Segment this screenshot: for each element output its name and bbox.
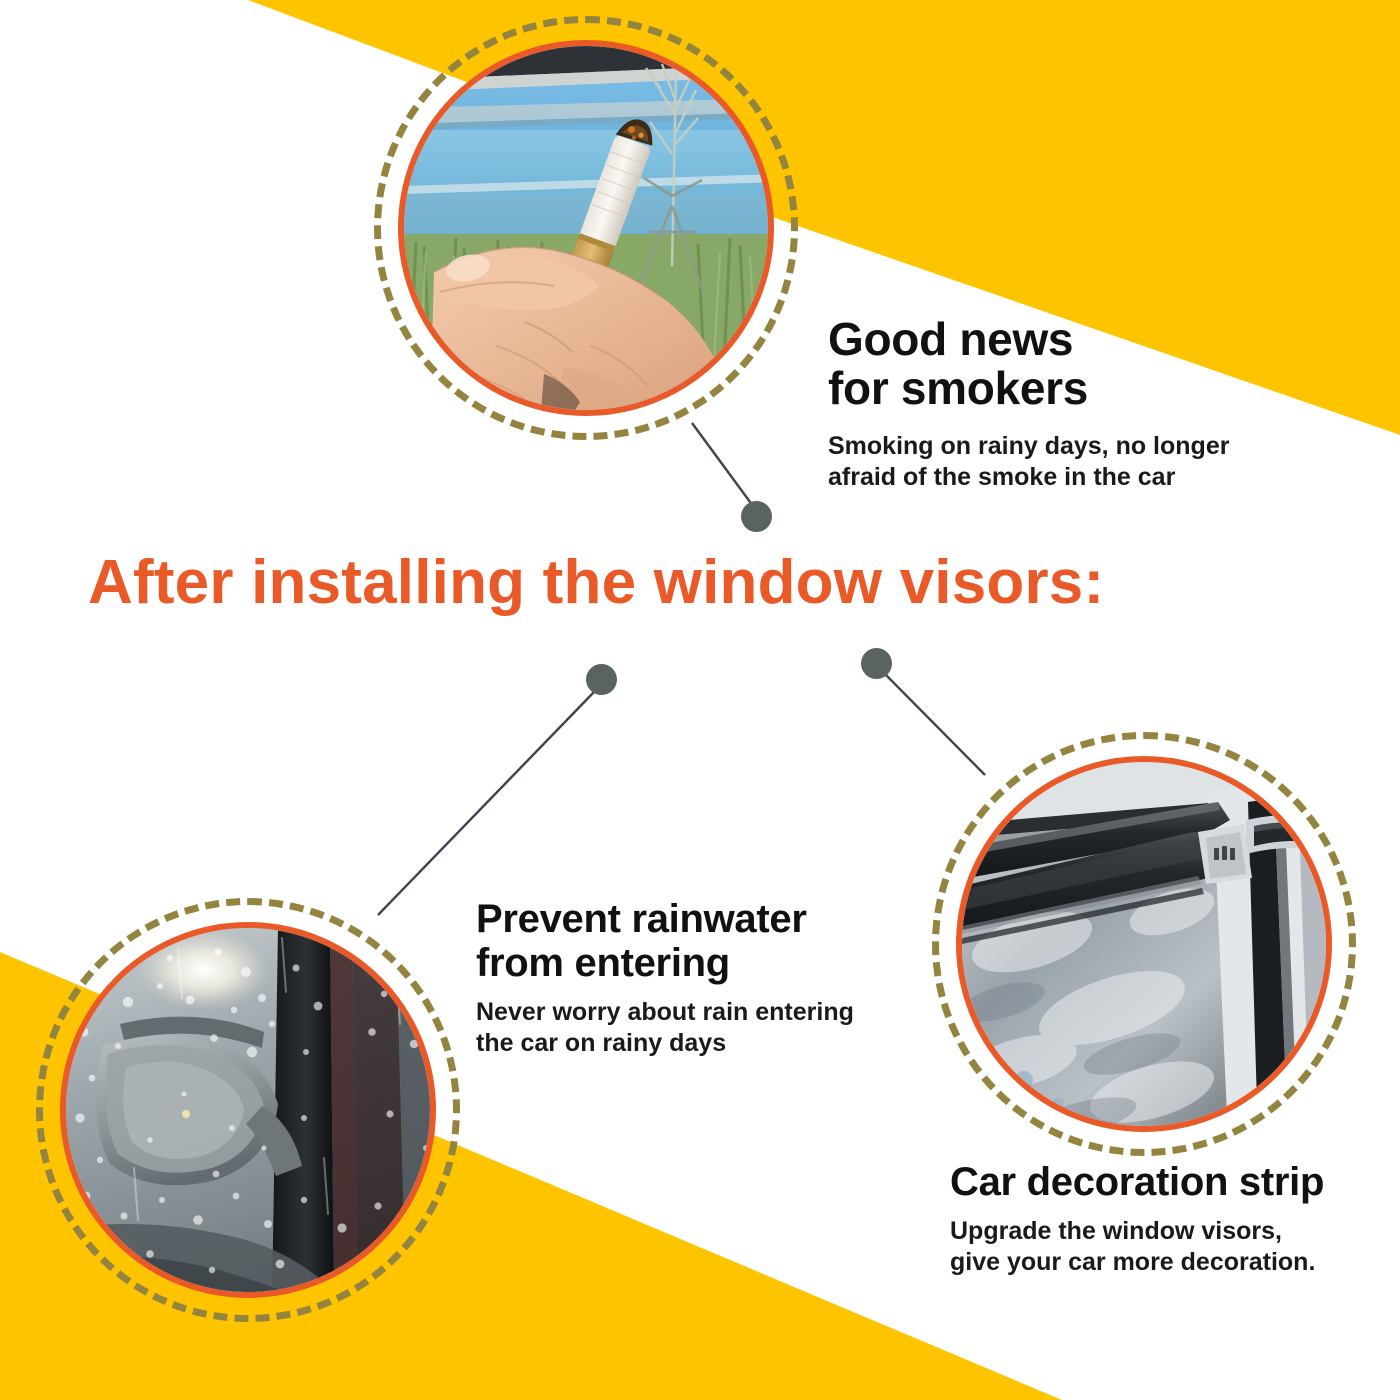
infographic-poster: After installing the window visors: Good… (0, 0, 1400, 1400)
callout-body-line1: Never worry about rain entering (476, 998, 854, 1026)
callout-body-line1: Smoking on rainy days, no longer (828, 432, 1229, 460)
callout-body-line2: the car on rainy days (476, 1029, 726, 1057)
callout-title-line1: Car decoration strip (950, 1160, 1324, 1204)
callout-body-line1: Upgrade the window visors, (950, 1217, 1282, 1245)
callout-body-line2: give your car more decoration. (950, 1248, 1315, 1276)
callout-title: Car decoration strip (950, 1160, 1324, 1204)
callout-prevent-rainwater: Prevent rainwater from entering Never wo… (476, 897, 854, 1059)
photo-rainwater-image (66, 928, 430, 1292)
photo-orange-ring (956, 756, 1332, 1132)
connector-line-rainwater (378, 692, 594, 915)
photo-smokers-image (404, 46, 768, 410)
callout-title: Prevent rainwater from entering (476, 897, 854, 985)
node-dot-smokers (741, 501, 772, 532)
node-dot-decoration (861, 648, 892, 679)
photo-decoration-image (962, 762, 1326, 1126)
callout-title-line1: Good news (828, 313, 1073, 365)
photo-circle-rainwater (36, 898, 460, 1322)
callout-body: Never worry about rain entering the car … (476, 997, 854, 1059)
callout-title-line2: for smokers (828, 362, 1088, 414)
callout-good-news-for-smokers: Good news for smokers Smoking on rainy d… (828, 315, 1229, 493)
callout-body: Upgrade the window visors, give your car… (950, 1216, 1324, 1278)
page-headline: After installing the window visors: (88, 548, 1348, 618)
callout-title: Good news for smokers (828, 315, 1229, 413)
callout-body: Smoking on rainy days, no longer afraid … (828, 431, 1229, 493)
callout-car-decoration-strip: Car decoration strip Upgrade the window … (950, 1160, 1324, 1278)
photo-orange-ring (398, 40, 774, 416)
callout-title-line1: Prevent rainwater (476, 897, 807, 941)
callout-title-line2: from entering (476, 941, 730, 985)
photo-orange-ring (60, 922, 436, 1298)
callout-body-line2: afraid of the smoke in the car (828, 463, 1175, 491)
node-dot-rainwater (586, 664, 617, 695)
photo-circle-decoration (932, 732, 1356, 1156)
photo-circle-smokers (374, 16, 798, 440)
